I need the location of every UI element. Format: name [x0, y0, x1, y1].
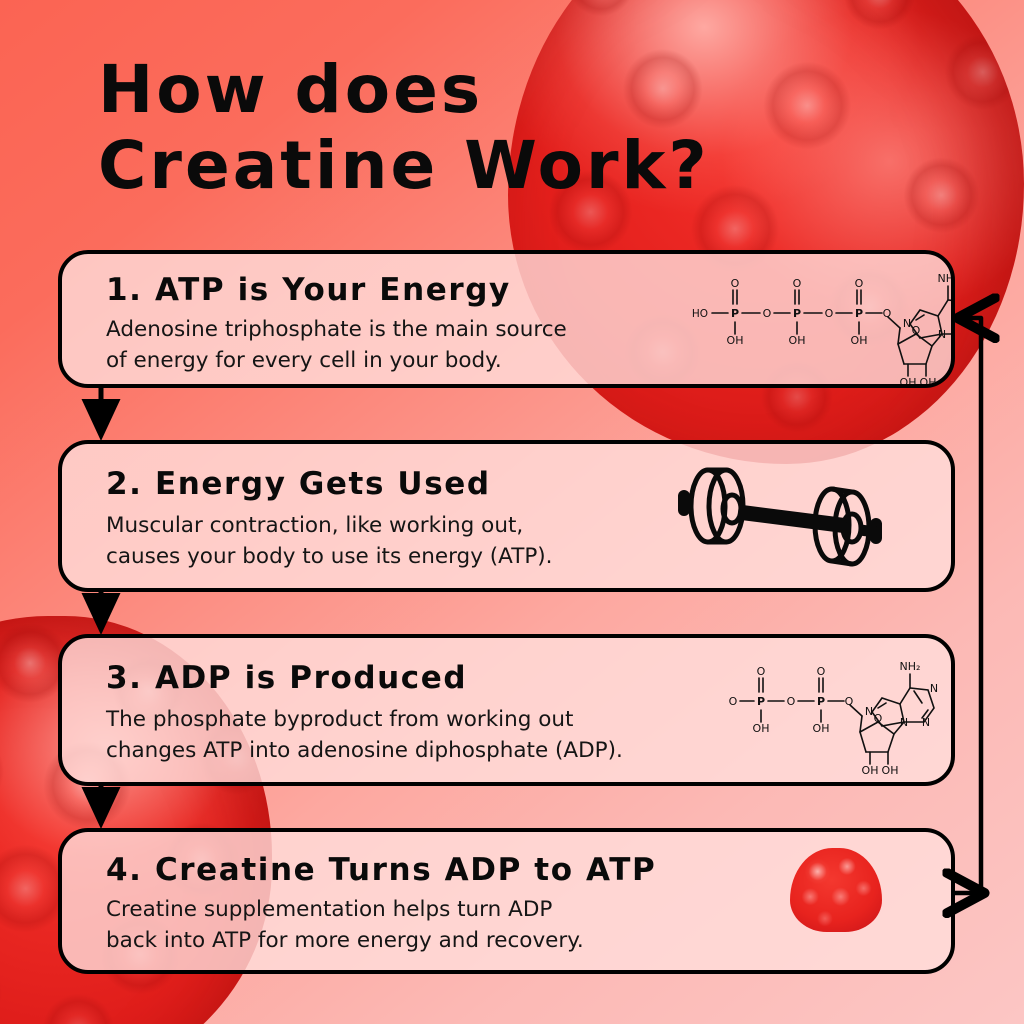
svg-text:P: P — [855, 307, 863, 320]
svg-text:HO: HO — [692, 308, 708, 320]
svg-text:O: O — [874, 712, 883, 725]
svg-text:N: N — [930, 682, 938, 695]
svg-text:O: O — [855, 277, 864, 290]
step-1-title: 1. ATP is Your Energy — [106, 272, 511, 308]
svg-text:N: N — [900, 716, 908, 729]
svg-text:P: P — [817, 695, 825, 708]
svg-text:OH: OH — [920, 376, 937, 388]
svg-text:N: N — [938, 328, 946, 341]
raspberry-gummy-icon — [790, 848, 882, 932]
step-4-title: 4. Creatine Turns ADP to ATP — [106, 852, 656, 888]
atp-molecule-diagram: HO P P P O O O O O O OH OH OH O OH OH N … — [676, 258, 955, 388]
step-card-1: 1. ATP is Your Energy Adenosine triphosp… — [58, 250, 955, 388]
svg-text:NH₂: NH₂ — [900, 660, 921, 673]
svg-text:O: O — [912, 324, 921, 337]
svg-text:N: N — [865, 705, 873, 718]
svg-text:O: O — [825, 307, 834, 320]
step-card-2: 2. Energy Gets Used Muscular contraction… — [58, 440, 955, 592]
svg-text:OH: OH — [813, 722, 830, 735]
step-2-title: 2. Energy Gets Used — [106, 466, 491, 502]
page-title: How does Creatine Work? — [98, 52, 858, 204]
dumbbell-icon — [670, 452, 920, 582]
infographic-canvas: How does Creatine Work? 1. ATP is Your E… — [0, 0, 1024, 1024]
svg-text:O: O — [793, 277, 802, 290]
svg-text:O: O — [883, 307, 892, 320]
adp-molecule-diagram: O P P O O O O OH OH O OH OH N N N N NH₂ — [722, 644, 955, 786]
step-4-body: Creatine supplementation helps turn ADP … — [106, 894, 584, 956]
svg-text:O: O — [757, 665, 766, 678]
svg-text:N: N — [903, 317, 911, 330]
svg-text:O: O — [731, 277, 740, 290]
step-1-body: Adenosine triphosphate is the main sourc… — [106, 314, 567, 376]
svg-text:P: P — [731, 307, 739, 320]
step-2-body: Muscular contraction, like working out, … — [106, 510, 553, 572]
svg-text:O: O — [729, 695, 738, 708]
svg-text:OH: OH — [851, 334, 868, 347]
svg-text:P: P — [757, 695, 765, 708]
svg-text:N: N — [922, 716, 930, 729]
svg-text:O: O — [763, 307, 772, 320]
svg-text:NH₂: NH₂ — [938, 272, 955, 285]
svg-text:P: P — [793, 307, 801, 320]
svg-text:O: O — [787, 695, 796, 708]
svg-text:OH: OH — [882, 764, 899, 777]
step-3-body: The phosphate byproduct from working out… — [106, 704, 623, 766]
svg-text:OH: OH — [727, 334, 744, 347]
svg-text:OH: OH — [753, 722, 770, 735]
svg-text:OH: OH — [789, 334, 806, 347]
step-3-title: 3. ADP is Produced — [106, 660, 467, 696]
svg-text:O: O — [845, 695, 854, 708]
step-card-3: 3. ADP is Produced The phosphate byprodu… — [58, 634, 955, 786]
svg-text:OH: OH — [900, 376, 917, 388]
svg-text:O: O — [817, 665, 826, 678]
svg-text:OH: OH — [862, 764, 879, 777]
